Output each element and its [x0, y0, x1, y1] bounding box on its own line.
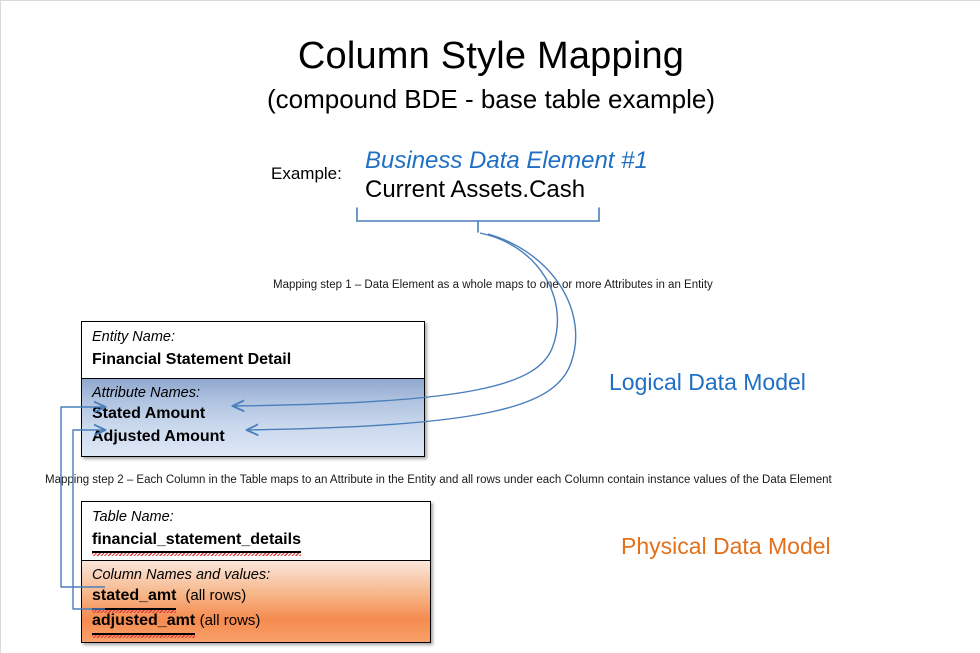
page-subtitle: (compound BDE - base table example) — [1, 85, 980, 114]
entity-header: Entity Name: Financial Statement Detail — [82, 322, 424, 379]
column-row: stated_amt (all rows) — [92, 585, 420, 610]
columns-kind-label: Column Names and values: — [92, 566, 420, 586]
attributes-kind-label: Attribute Names: — [92, 384, 414, 404]
mapping-step-2-note: Mapping step 2 – Each Column in the Tabl… — [45, 474, 832, 486]
bde-brace — [357, 208, 599, 232]
page-title: Column Style Mapping — [1, 37, 980, 77]
column-row: adjusted_amt (all rows) — [92, 610, 420, 635]
table-kind-label: Table Name: — [92, 508, 420, 528]
logical-data-model-label: Logical Data Model — [609, 369, 806, 396]
entity-name: Financial Statement Detail — [92, 348, 414, 371]
column-name: stated_amt — [92, 585, 176, 610]
mapping-step-1-note: Mapping step 1 – Data Element as a whole… — [273, 279, 713, 291]
physical-data-model-label: Physical Data Model — [621, 533, 831, 560]
business-data-element-value: Current Assets.Cash — [365, 176, 585, 204]
table-header: Table Name: financial_statement_details — [82, 502, 430, 561]
table-name-wrapper: financial_statement_details — [92, 528, 420, 553]
table-box: Table Name: financial_statement_details … — [81, 501, 431, 643]
column-values-note: (all rows) — [200, 612, 261, 629]
column-values-note: (all rows) — [185, 587, 246, 604]
entity-box: Entity Name: Financial Statement Detail … — [81, 321, 425, 457]
business-data-element-name: Business Data Element #1 — [365, 147, 648, 175]
attribute-row: Stated Amount — [92, 403, 414, 426]
table-columns-body: Column Names and values: stated_amt (all… — [82, 561, 430, 642]
table-name: financial_statement_details — [92, 528, 301, 553]
column-name: adjusted_amt — [92, 610, 195, 635]
entity-attributes-body: Attribute Names: Stated Amount Adjusted … — [82, 379, 424, 456]
slide-canvas: Column Style Mapping (compound BDE - bas… — [0, 0, 980, 653]
entity-kind-label: Entity Name: — [92, 328, 414, 348]
example-label: Example: — [271, 164, 342, 184]
attribute-row: Adjusted Amount — [92, 426, 414, 449]
